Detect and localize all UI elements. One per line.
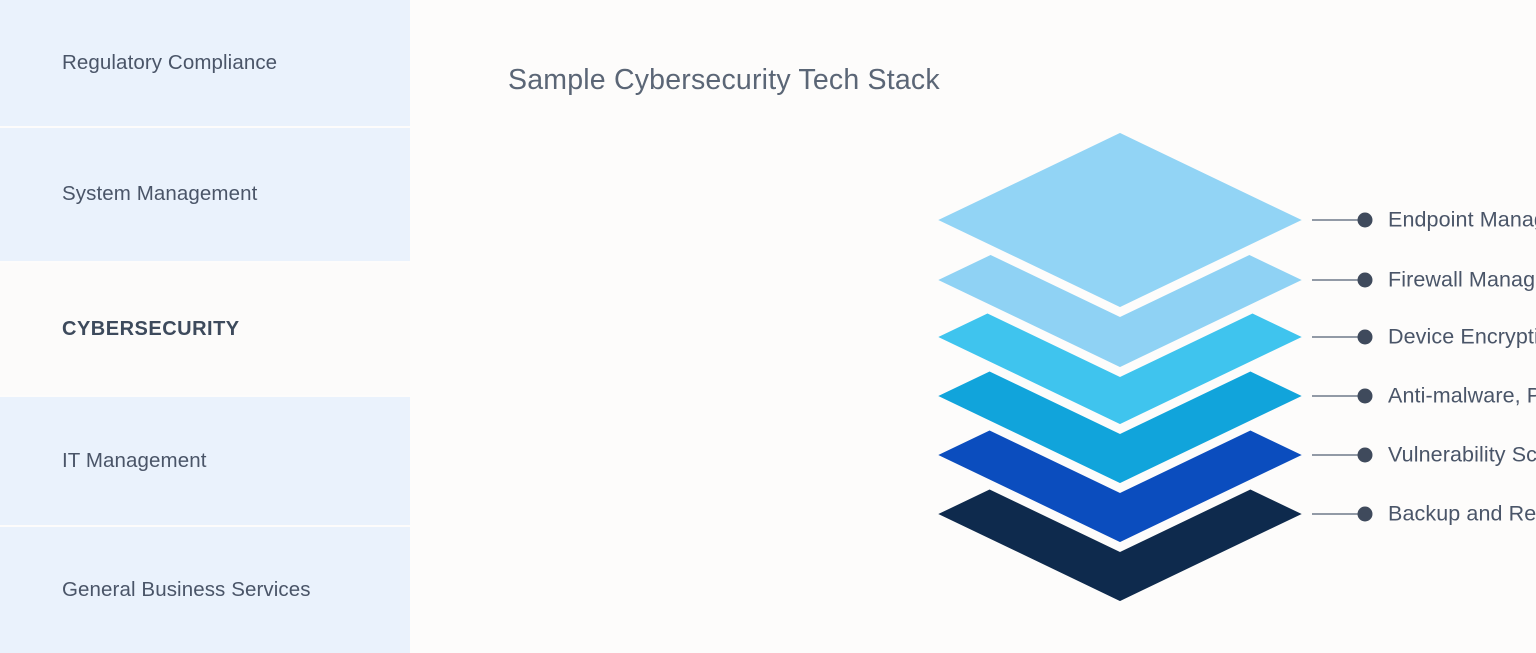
- sidebar-item-label: IT Management: [62, 449, 207, 474]
- leader-dot-5: [1358, 448, 1373, 463]
- callout-label-3: Device Encryption: [1388, 326, 1536, 348]
- main-content: Sample Cybersecurity Tech Stack Endpoint…: [410, 0, 1536, 653]
- leader-dot-2: [1358, 273, 1373, 288]
- leader-line-group: [1312, 213, 1373, 522]
- tech-stack-svg: [410, 0, 1536, 653]
- sidebar-item-system-management[interactable]: System Management: [0, 128, 410, 261]
- leader-dot-1: [1358, 213, 1373, 228]
- sidebar-item-regulatory-compliance[interactable]: Regulatory Compliance: [0, 0, 410, 126]
- sidebar-item-cybersecurity[interactable]: CYBERSECURITY: [0, 263, 410, 395]
- diamond-layer-group: [928, 128, 1312, 606]
- sidebar-item-general-business-services[interactable]: General Business Services: [0, 527, 410, 653]
- callout-label-2: Firewall Management: [1388, 269, 1536, 291]
- sidebar-item-it-management[interactable]: IT Management: [0, 397, 410, 525]
- callout-label-1: Endpoint Management: [1388, 209, 1536, 231]
- sidebar-item-label: CYBERSECURITY: [62, 317, 240, 341]
- category-sidebar: Regulatory ComplianceSystem ManagementCY…: [0, 0, 410, 653]
- leader-dot-3: [1358, 330, 1373, 345]
- callout-label-6: Backup and Recovery: [1388, 503, 1536, 525]
- sidebar-item-label: General Business Services: [62, 578, 311, 603]
- leader-dot-4: [1358, 389, 1373, 404]
- callout-label-5: Vulnerability Scanning and Assessment: [1388, 444, 1536, 466]
- sidebar-item-label: Regulatory Compliance: [62, 51, 277, 76]
- callout-label-4: Anti-malware, Patch Management: [1388, 385, 1536, 407]
- leader-dot-6: [1358, 507, 1373, 522]
- tech-stack-diagram: Endpoint ManagementFirewall ManagementDe…: [410, 0, 1536, 653]
- page-root: Regulatory ComplianceSystem ManagementCY…: [0, 0, 1536, 653]
- sidebar-item-label: System Management: [62, 182, 257, 207]
